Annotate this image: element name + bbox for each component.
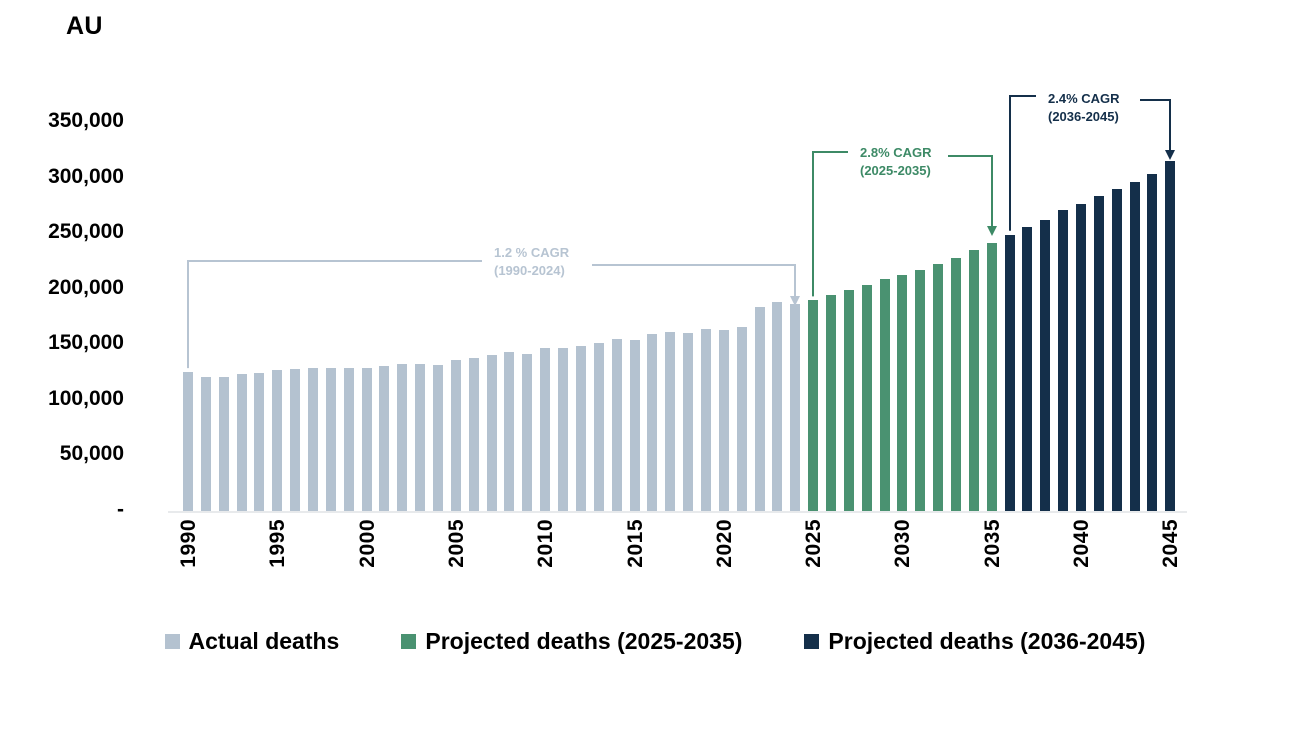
bar	[379, 366, 389, 511]
legend-label: Projected deaths (2025-2035)	[425, 628, 742, 655]
cagr-annotation-label: 1.2 % CAGR (1990-2024)	[494, 244, 569, 279]
bar	[415, 364, 425, 511]
bar	[362, 368, 372, 511]
bar	[612, 339, 622, 511]
bar	[1076, 204, 1086, 511]
bar	[1165, 161, 1175, 511]
y-axis-tick-label: 200,000	[0, 276, 124, 300]
bar	[397, 364, 407, 511]
x-axis-tick-label: 2030	[891, 519, 915, 568]
x-axis-tick-label: 2020	[713, 519, 737, 568]
bar	[272, 370, 282, 511]
bar	[451, 360, 461, 511]
cagr-annotation-label: 2.4% CAGR (2036-2045)	[1048, 90, 1120, 125]
bar	[540, 348, 550, 511]
bar	[558, 348, 568, 511]
x-axis-tick-label: 2000	[356, 519, 380, 568]
bar	[1005, 235, 1015, 511]
x-axis-tick-label: 2025	[802, 519, 826, 568]
bar	[683, 333, 693, 511]
bar	[201, 377, 211, 511]
legend-label: Actual deaths	[189, 628, 340, 655]
y-axis-tick-label: 300,000	[0, 165, 124, 189]
x-axis-tick-label: 2015	[624, 519, 648, 568]
bar	[326, 368, 336, 511]
y-axis-tick-label: 100,000	[0, 387, 124, 411]
bar	[790, 304, 800, 511]
bar	[844, 290, 854, 511]
x-axis-tick-label: 2010	[534, 519, 558, 568]
bar	[1094, 196, 1104, 511]
bar	[504, 352, 514, 511]
legend-swatch-icon	[401, 634, 416, 649]
bar	[576, 346, 586, 511]
bar	[308, 368, 318, 511]
bar	[1112, 189, 1122, 511]
x-axis-tick-label: 2035	[981, 519, 1005, 568]
bar	[665, 332, 675, 511]
bar	[880, 279, 890, 511]
bar	[719, 330, 729, 511]
axis-baseline	[168, 511, 1187, 513]
bar	[647, 334, 657, 511]
bar	[183, 372, 193, 511]
bar	[1147, 174, 1157, 511]
bar	[1022, 227, 1032, 511]
bar	[772, 302, 782, 511]
bar	[219, 377, 229, 511]
bar	[897, 275, 907, 511]
cagr-annotation-label: 2.8% CAGR (2025-2035)	[860, 144, 932, 179]
bar	[522, 354, 532, 511]
bar	[826, 295, 836, 511]
bar	[254, 373, 264, 511]
x-axis-tick-label: 1995	[266, 519, 290, 568]
legend-swatch-icon	[804, 634, 819, 649]
bar	[701, 329, 711, 511]
legend-swatch-icon	[165, 634, 180, 649]
bar	[969, 250, 979, 511]
x-axis-tick-label: 1990	[177, 519, 201, 568]
bar	[755, 307, 765, 512]
bar	[469, 358, 479, 511]
bar	[951, 258, 961, 511]
x-axis-tick-label: 2040	[1070, 519, 1094, 568]
legend-label: Projected deaths (2036-2045)	[828, 628, 1145, 655]
chart-legend: Actual deathsProjected deaths (2025-2035…	[0, 628, 1310, 655]
bars-layer	[183, 122, 1185, 511]
bar	[487, 355, 497, 511]
bar	[1040, 220, 1050, 511]
bar	[630, 340, 640, 511]
bar	[290, 369, 300, 511]
bar	[862, 285, 872, 511]
y-axis-tick-label: 350,000	[0, 109, 124, 133]
x-axis-tick-label: 2045	[1159, 519, 1183, 568]
bar	[433, 365, 443, 511]
bar	[933, 264, 943, 511]
y-axis-tick-label: 50,000	[0, 442, 124, 466]
x-axis-tick-label: 2005	[445, 519, 469, 568]
bar	[737, 327, 747, 511]
bar	[915, 270, 925, 511]
y-axis-tick-label: 250,000	[0, 220, 124, 244]
bar	[808, 300, 818, 511]
legend-item[interactable]: Actual deaths	[165, 628, 340, 655]
y-axis-tick-label: 150,000	[0, 331, 124, 355]
bar	[1130, 182, 1140, 511]
legend-item[interactable]: Projected deaths (2025-2035)	[401, 628, 742, 655]
bar	[237, 374, 247, 511]
y-axis-tick-label: -	[0, 498, 124, 522]
legend-item[interactable]: Projected deaths (2036-2045)	[804, 628, 1145, 655]
bar	[987, 243, 997, 511]
bar	[594, 343, 604, 511]
bar	[1058, 210, 1068, 511]
bar	[344, 368, 354, 511]
